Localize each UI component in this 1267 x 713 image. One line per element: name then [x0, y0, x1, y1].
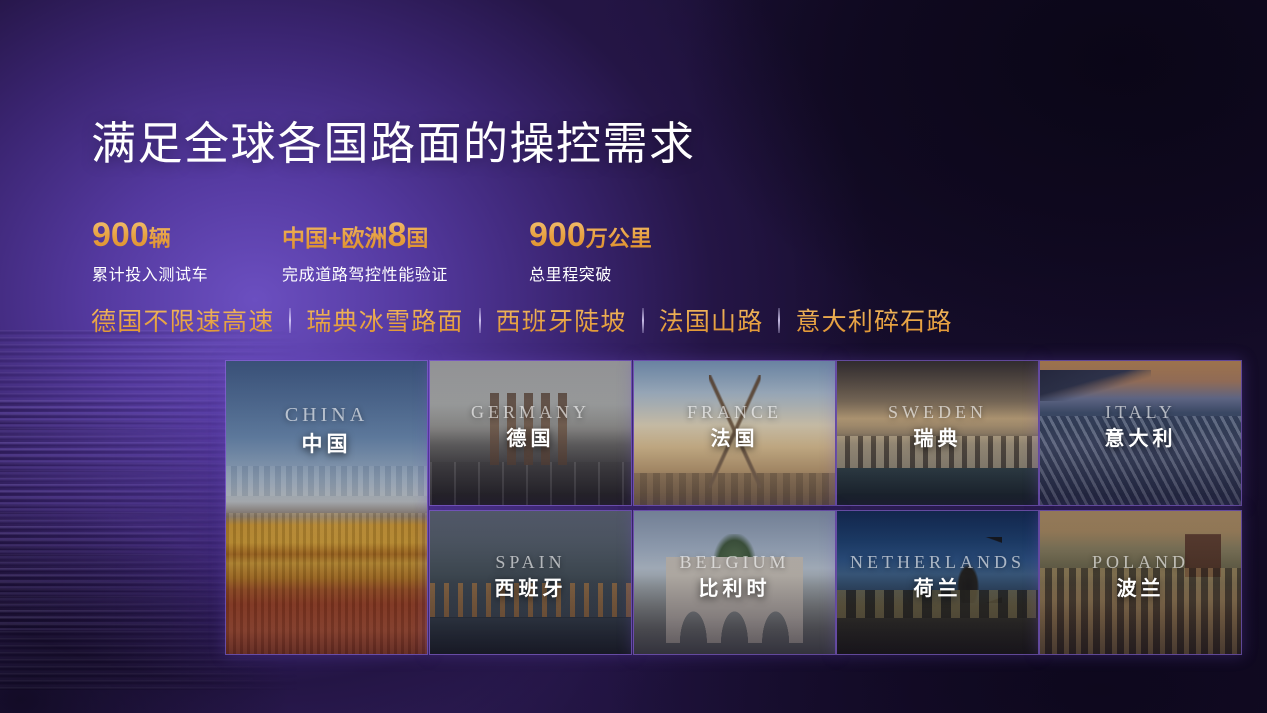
- separator-icon: [642, 308, 644, 333]
- road-type-item: 法国山路: [659, 302, 764, 338]
- country-name-en: ITALY: [1105, 403, 1176, 421]
- stat-item-countries: 中国+欧洲8国 完成道路驾控性能验证: [282, 218, 529, 285]
- road-types-list: 德国不限速高速 瑞典冰雪路面 西班牙陡坡 法国山路 意大利碎石路: [91, 302, 953, 338]
- country-name-cn: 波兰: [1117, 579, 1165, 599]
- country-name-en: NETHERLANDS: [850, 553, 1025, 571]
- road-type-item: 西班牙陡坡: [496, 302, 627, 338]
- country-name-en: SPAIN: [495, 553, 565, 571]
- road-type-item: 意大利碎石路: [795, 302, 952, 338]
- country-photo-grid: CHINA 中国 GERMANY 德国 FRANCE 法国 SWEDE: [226, 361, 1241, 654]
- stat-number: 900: [92, 216, 149, 254]
- country-name-cn: 荷兰: [914, 579, 962, 599]
- country-tile-sweden[interactable]: SWEDEN 瑞典: [837, 361, 1038, 505]
- country-tile-belgium[interactable]: BELGIUM 比利时: [634, 511, 835, 654]
- country-name-cn: 西班牙: [495, 579, 567, 599]
- separator-icon: [289, 308, 291, 333]
- country-tile-labels: SWEDEN 瑞典: [837, 361, 1038, 505]
- country-name-en: BELGIUM: [680, 553, 790, 571]
- country-tile-labels: ITALY 意大利: [1040, 361, 1241, 505]
- stat-item-test-vehicles: 900辆 累计投入测试车: [92, 218, 282, 285]
- stat-unit: 国: [406, 226, 428, 251]
- presentation-slide: 满足全球各国路面的操控需求 900辆 累计投入测试车 中国+欧洲8国 完成道路驾…: [0, 0, 1267, 713]
- stat-item-total-mileage: 900万公里 总里程突破: [529, 218, 652, 285]
- country-tile-labels: CHINA 中国: [226, 361, 427, 654]
- country-tile-labels: GERMANY 德国: [430, 361, 631, 505]
- stat-prefix: 中国+欧洲: [282, 225, 387, 251]
- country-name-cn: 瑞典: [914, 429, 962, 449]
- road-type-item: 德国不限速高速: [91, 302, 274, 338]
- stat-number: 900: [529, 216, 586, 254]
- stat-value: 900辆: [92, 218, 282, 252]
- stat-unit: 万公里: [586, 226, 652, 251]
- stat-label: 总里程突破: [529, 261, 652, 285]
- country-name-cn: 意大利: [1105, 429, 1177, 449]
- country-name-en: FRANCE: [687, 403, 782, 421]
- country-tile-netherlands[interactable]: NETHERLANDS 荷兰: [837, 511, 1038, 654]
- separator-icon: [778, 308, 780, 333]
- road-type-item: 瑞典冰雪路面: [306, 302, 463, 338]
- country-name-en: SWEDEN: [888, 403, 987, 421]
- country-name-cn: 法国: [711, 429, 759, 449]
- country-name-en: POLAND: [1092, 553, 1189, 571]
- country-tile-spain[interactable]: SPAIN 西班牙: [430, 511, 631, 654]
- country-tile-poland[interactable]: POLAND 波兰: [1040, 511, 1241, 654]
- page-title: 满足全球各国路面的操控需求: [91, 117, 696, 170]
- country-tile-labels: POLAND 波兰: [1040, 511, 1241, 654]
- stat-value: 中国+欧洲8国: [282, 218, 529, 252]
- country-name-cn: 中国: [302, 434, 352, 455]
- country-name-en: GERMANY: [471, 403, 590, 421]
- country-tile-labels: SPAIN 西班牙: [430, 511, 631, 654]
- country-tile-labels: BELGIUM 比利时: [634, 511, 835, 654]
- country-tile-france[interactable]: FRANCE 法国: [634, 361, 835, 505]
- stat-value: 900万公里: [529, 218, 652, 252]
- country-tile-china[interactable]: CHINA 中国: [226, 361, 427, 654]
- stat-label: 累计投入测试车: [92, 261, 282, 285]
- stats-row: 900辆 累计投入测试车 中国+欧洲8国 完成道路驾控性能验证 900万公里 总…: [92, 218, 652, 285]
- stat-unit: 辆: [149, 226, 171, 251]
- stat-label: 完成道路驾控性能验证: [282, 261, 529, 285]
- country-tile-labels: NETHERLANDS 荷兰: [837, 511, 1038, 654]
- country-tile-germany[interactable]: GERMANY 德国: [430, 361, 631, 505]
- country-name-cn: 比利时: [699, 579, 771, 599]
- country-name-cn: 德国: [507, 429, 555, 449]
- stat-number: 8: [387, 216, 406, 254]
- separator-icon: [479, 308, 481, 333]
- country-tile-italy[interactable]: ITALY 意大利: [1040, 361, 1241, 505]
- country-tile-labels: FRANCE 法国: [634, 361, 835, 505]
- country-name-en: CHINA: [285, 405, 368, 425]
